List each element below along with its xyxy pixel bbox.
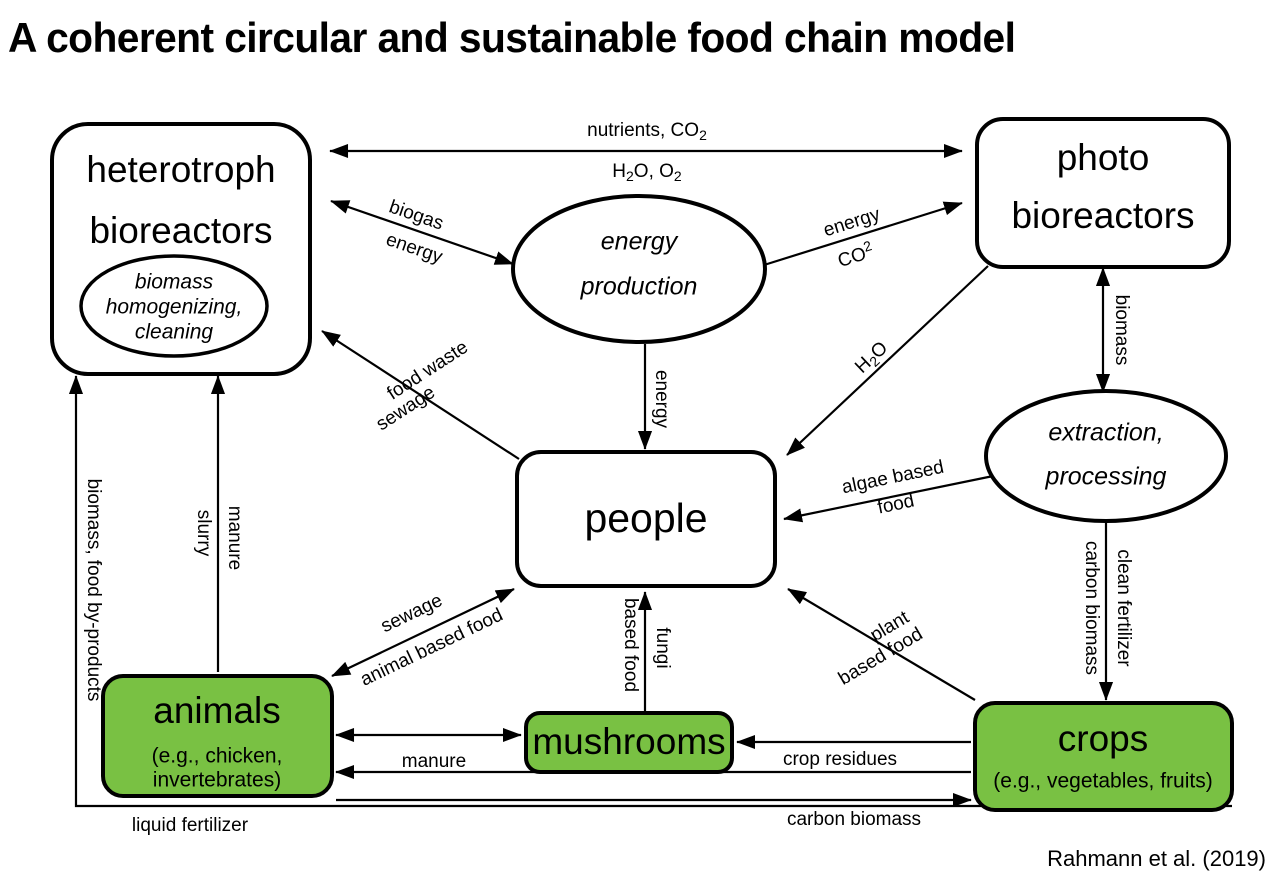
photo-label-line2: bioreactors: [1011, 195, 1194, 236]
edge-label-clean-fertilizer: clean fertilizer: [1113, 549, 1134, 667]
edge-label-slurry-vertical: slurry: [193, 510, 214, 557]
edge-label-energy-down: energy: [651, 370, 672, 429]
edge-label-biomass-byproducts: biomass, food by-products: [83, 479, 104, 702]
animals-label: animals: [153, 690, 281, 731]
energy-production-line1: energy: [601, 228, 679, 256]
edge-label-manure-horizontal: manure: [402, 751, 466, 772]
node-crops[interactable]: crops (e.g., vegetables, fruits): [975, 703, 1232, 810]
food-chain-diagram: nutrients, CO2 H2O, O2 biogas energy ene…: [0, 0, 1280, 884]
edge-label-sewage-lower: sewage: [378, 590, 446, 637]
citation: Rahmann et al. (2019): [1047, 846, 1266, 872]
energy-production-ellipse[interactable]: [513, 196, 765, 342]
edge-label-biogas: biogas: [386, 196, 446, 234]
node-extraction-processing[interactable]: extraction, processing: [986, 391, 1226, 521]
extraction-line2: processing: [1045, 463, 1167, 491]
node-heterotroph-bioreactors[interactable]: heterotroph bioreactors biomass homogeni…: [52, 124, 310, 374]
heterotroph-inner-line1: biomass: [135, 271, 214, 294]
photo-label-line1: photo: [1057, 137, 1150, 178]
edge-label-h2o-o2: H2O, O2: [612, 161, 682, 184]
edge-label-crop-residues: crop residues: [783, 749, 897, 770]
edge-label-biogas-energy: energy: [383, 229, 445, 268]
node-mushrooms[interactable]: mushrooms: [526, 713, 732, 772]
edge-label-liquid-fertilizer: liquid fertilizer: [132, 815, 249, 836]
heterotroph-label-line1: heterotroph: [86, 149, 275, 190]
edge-label-nutrients-co2: nutrients, CO2: [587, 120, 707, 143]
edge-label-manure-vertical: manure: [224, 506, 245, 570]
edge-photo-people: [787, 266, 988, 455]
people-label: people: [584, 495, 707, 541]
edge-label-fungi-based-food: based food: [620, 598, 641, 692]
heterotroph-inner-line3: cleaning: [135, 321, 214, 344]
edge-label-fungi: fungi: [652, 627, 673, 668]
animals-sublabel-line2: invertebrates): [153, 769, 281, 792]
crops-label: crops: [1058, 718, 1148, 759]
node-energy-production[interactable]: energy production: [513, 196, 765, 342]
node-people[interactable]: people: [517, 452, 775, 586]
crops-sublabel: (e.g., vegetables, fruits): [993, 770, 1212, 793]
node-photo-bioreactors[interactable]: photo bioreactors: [977, 119, 1229, 267]
edge-label-algae-food: food: [876, 490, 916, 518]
edge-label-algae-based: algae based: [840, 457, 946, 499]
animals-sublabel-line1: (e.g., chicken,: [152, 745, 283, 768]
extraction-ellipse[interactable]: [986, 391, 1226, 521]
edge-label-biomass-vertical: biomass: [1111, 295, 1132, 366]
edge-label-carbon-biomass-vertical: carbon biomass: [1081, 541, 1102, 675]
mushrooms-label: mushrooms: [532, 721, 725, 762]
energy-production-line2: production: [580, 273, 698, 301]
edge-label-carbon-biomass-horizontal: carbon biomass: [787, 809, 921, 830]
node-animals[interactable]: animals (e.g., chicken, invertebrates): [103, 676, 332, 796]
heterotroph-inner-line2: homogenizing,: [106, 296, 243, 319]
edge-label-energy-to-photo: energy: [821, 204, 883, 242]
edge-label-h2o-diagonal: H2O: [851, 338, 893, 379]
heterotroph-label-line2: bioreactors: [89, 210, 272, 251]
extraction-line1: extraction,: [1048, 419, 1163, 447]
